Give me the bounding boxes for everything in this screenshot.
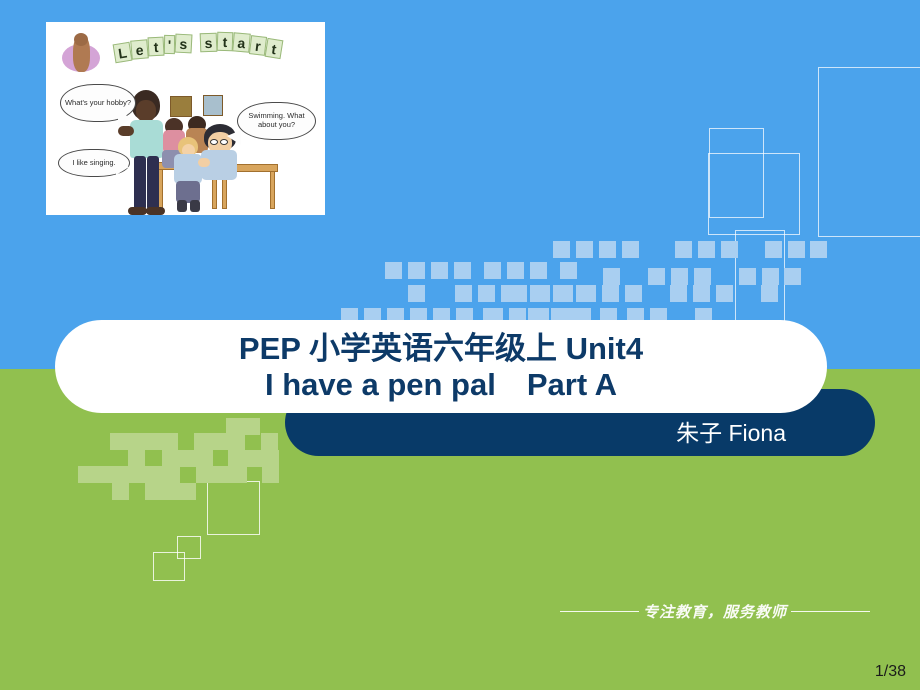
- decor-square-green-20: [129, 466, 146, 483]
- decor-square-green-19: [112, 466, 129, 483]
- decor-square-blue-2: [599, 241, 616, 258]
- decor-square-blue-5: [698, 241, 715, 258]
- decor-square-blue-39: [484, 262, 501, 279]
- decor-square-blue-10: [603, 268, 620, 285]
- speech-bubble-2-tail: [227, 130, 241, 145]
- decor-square-green-5: [161, 433, 178, 450]
- decor-square-green-12: [179, 450, 196, 467]
- decor-square-blue-22: [625, 285, 642, 302]
- speech-bubble-3-text: I like singing.: [72, 159, 115, 168]
- lesson-clipart-image: L e t ' s s t a r t: [46, 22, 325, 215]
- decor-square-green-18: [95, 466, 112, 483]
- decor-outline-rect-blue-2: [708, 153, 800, 235]
- decor-square-blue-35: [385, 262, 402, 279]
- decor-square-blue-3: [622, 241, 639, 258]
- speech-bubble-2-text: Swimming. What about you?: [238, 112, 315, 129]
- bear-head-icon: [74, 33, 88, 46]
- decor-square-blue-42: [560, 262, 577, 279]
- decor-square-green-8: [228, 433, 245, 450]
- decor-square-green-28: [145, 483, 162, 500]
- decor-square-green-14: [228, 450, 245, 467]
- decor-square-green-11: [162, 450, 179, 467]
- decor-square-blue-46: [501, 285, 518, 302]
- decor-square-green-7: [211, 433, 228, 450]
- decor-square-blue-7: [765, 241, 782, 258]
- decor-square-green-23: [196, 466, 213, 483]
- clipart-heading: L e t ' s s t a r t: [114, 29, 249, 69]
- decor-square-blue-21: [602, 285, 619, 302]
- decor-square-blue-4: [675, 241, 692, 258]
- clipart-inner: L e t ' s s t a r t: [46, 22, 325, 215]
- decor-outline-rect-green-2: [153, 552, 185, 581]
- decor-square-green-4: [144, 433, 161, 450]
- decor-square-green-9: [261, 433, 278, 450]
- speech-bubble-1-text: What's your hobby?: [65, 99, 131, 108]
- wall-picture-2-icon: [203, 95, 223, 116]
- decor-square-green-6: [194, 433, 211, 450]
- decor-square-blue-9: [810, 241, 827, 258]
- decor-square-blue-49: [576, 285, 593, 302]
- speech-bubble-3-tail: [116, 162, 129, 175]
- decor-square-blue-36: [408, 262, 425, 279]
- title-plate: [55, 320, 827, 413]
- decor-square-green-16: [262, 450, 279, 467]
- decor-square-blue-47: [530, 285, 547, 302]
- decor-square-blue-16: [784, 268, 801, 285]
- watermark-rule-left: [560, 611, 639, 612]
- decor-square-blue-12: [671, 268, 688, 285]
- decor-square-green-22: [163, 466, 180, 483]
- decor-square-blue-26: [761, 285, 778, 302]
- decor-square-green-24: [213, 466, 230, 483]
- decor-outline-rect-blue-0: [818, 67, 920, 237]
- decor-square-blue-6: [721, 241, 738, 258]
- decor-square-blue-25: [716, 285, 733, 302]
- decor-square-blue-15: [762, 268, 779, 285]
- decor-square-blue-45: [478, 285, 495, 302]
- decor-square-blue-48: [553, 285, 570, 302]
- decor-square-green-3: [127, 433, 144, 450]
- decor-square-green-27: [112, 483, 129, 500]
- decor-square-blue-41: [530, 262, 547, 279]
- decor-outline-rect-green-0: [207, 481, 260, 535]
- decor-square-blue-11: [648, 268, 665, 285]
- decor-square-green-10: [128, 450, 145, 467]
- slide-canvas: L e t ' s s t a r t: [0, 0, 920, 690]
- page-number: 1/38: [875, 663, 906, 681]
- decor-square-green-15: [245, 450, 262, 467]
- decor-square-green-1: [243, 418, 260, 435]
- watermark-rule-right: [791, 611, 870, 612]
- decor-square-blue-24: [693, 285, 710, 302]
- speech-bubble-1-tail: [118, 112, 132, 127]
- decor-square-blue-8: [788, 241, 805, 258]
- decor-square-green-21: [146, 466, 163, 483]
- watermark-text: 专注教育，服务教师: [643, 601, 787, 622]
- decor-square-blue-38: [454, 262, 471, 279]
- decor-square-green-26: [262, 466, 279, 483]
- footer-watermark: 专注教育，服务教师: [560, 601, 870, 622]
- decor-square-green-13: [196, 450, 213, 467]
- decor-square-blue-37: [431, 262, 448, 279]
- decor-square-green-17: [78, 466, 95, 483]
- speech-bubble-2: Swimming. What about you?: [237, 102, 316, 140]
- decor-square-blue-40: [507, 262, 524, 279]
- decor-square-blue-13: [694, 268, 711, 285]
- wall-picture-1-icon: [170, 96, 192, 117]
- decor-square-green-2: [110, 433, 127, 450]
- decor-square-green-29: [162, 483, 179, 500]
- decor-square-blue-44: [455, 285, 472, 302]
- desk-right-leg-b: [270, 171, 275, 209]
- decor-square-blue-1: [576, 241, 593, 258]
- decor-square-green-25: [230, 466, 247, 483]
- decor-square-blue-14: [739, 268, 756, 285]
- decor-square-blue-43: [408, 285, 425, 302]
- decor-square-blue-0: [553, 241, 570, 258]
- decor-square-blue-23: [670, 285, 687, 302]
- decor-square-green-30: [179, 483, 196, 500]
